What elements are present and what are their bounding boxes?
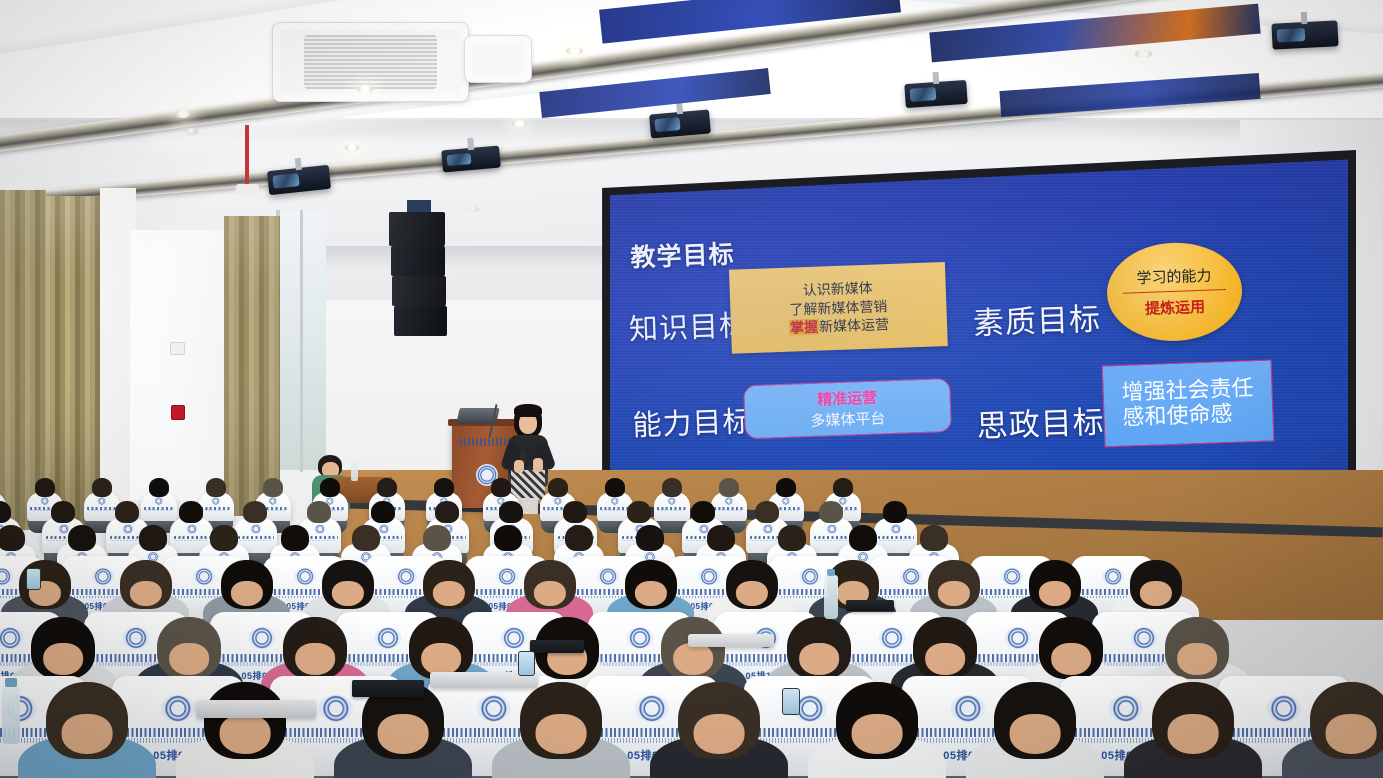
attendee-head: [625, 560, 677, 609]
school-emblem-icon: [248, 627, 275, 649]
seat-school-name-en: [658, 510, 685, 511]
attendee-head: [204, 682, 286, 759]
speaker-array: [389, 212, 451, 342]
school-emblem-icon: [161, 695, 195, 722]
attendee-neck: [1326, 714, 1377, 754]
knowledge-objectives-box: 认识新媒体 了解新媒体营销 掌握新媒体运营: [729, 262, 948, 354]
attendee-head: [423, 560, 475, 609]
attendee-head: [491, 478, 511, 497]
slide-label-knowledge: 知识目标: [628, 302, 749, 348]
attendee-head: [661, 617, 725, 679]
attendee-head: [494, 525, 522, 551]
attendee-neck: [925, 643, 965, 675]
notebook: [846, 600, 894, 611]
school-emblem-icon: [951, 695, 985, 722]
attendee-head: [691, 501, 715, 523]
school-emblem-icon: [1102, 568, 1124, 585]
seat-school-name-en: [88, 510, 115, 511]
seat-school-name-en: [815, 540, 848, 541]
attendee-head: [435, 501, 459, 523]
attendee-head: [605, 478, 625, 497]
seat-school-name-en: [879, 540, 912, 541]
attendee-neck: [421, 643, 461, 675]
attendee-neck: [736, 581, 768, 606]
attendee-head: [928, 560, 980, 609]
attendee-head: [636, 525, 664, 551]
slide-label-ideology: 思政目标: [976, 396, 1106, 446]
school-emblem-icon: [40, 497, 49, 505]
attendee-head: [434, 478, 454, 497]
tablet-arm-desk: [688, 634, 774, 647]
attendee-head: [787, 617, 851, 679]
projector: [267, 165, 331, 195]
attendee-head: [31, 617, 95, 679]
knowledge-line-3-rest: 新媒体运营: [819, 316, 890, 334]
seat-school-name-en: [145, 510, 172, 511]
attendee-head: [563, 501, 587, 523]
notebook: [352, 680, 424, 697]
seat-school-name-en: [202, 510, 229, 511]
attendee-head: [627, 501, 651, 523]
attendee-head: [68, 525, 96, 551]
attendee-head: [662, 478, 682, 497]
fire-alarm-pull: [171, 405, 185, 420]
attendee-head: [423, 525, 451, 551]
attendee-neck: [1140, 581, 1172, 606]
school-emblem-icon: [1130, 627, 1157, 649]
attendee-head: [719, 478, 739, 497]
attendee-head: [352, 525, 380, 551]
knowledge-line-1: 认识新媒体: [802, 280, 873, 299]
attendee-head: [263, 478, 283, 497]
ceiling-access-panel: [464, 35, 532, 83]
attendee-head: [92, 478, 112, 497]
school-emblem-icon: [698, 568, 720, 585]
attendee-head: [243, 501, 267, 523]
seat-school-name-en: [601, 510, 628, 511]
school-emblem-icon: [211, 497, 220, 505]
school-emblem-icon: [500, 627, 527, 649]
attendee-neck: [169, 643, 209, 675]
attendee-neck: [635, 581, 667, 606]
window-mullion: [300, 210, 303, 472]
school-emblem-icon: [496, 568, 518, 585]
attendee-head: [46, 682, 128, 759]
attendee-neck: [534, 581, 566, 606]
attendee-head: [115, 501, 139, 523]
attendee-head: [755, 501, 779, 523]
attendee-neck: [673, 643, 713, 675]
attendee-neck: [938, 581, 970, 606]
water-bottle: [824, 575, 838, 619]
attendee-head: [1310, 682, 1383, 759]
attendee-head: [849, 525, 877, 551]
knowledge-line-3-highlight: 掌握: [789, 319, 820, 336]
ability-line-1: 精准运营: [817, 387, 878, 410]
attendee-head: [51, 501, 75, 523]
school-emblem-icon: [477, 695, 511, 722]
attendee-head: [920, 525, 948, 551]
school-emblem-icon: [92, 568, 114, 585]
attendee-neck: [852, 714, 903, 754]
attendee-head: [371, 501, 395, 523]
attendee-neck: [1039, 581, 1071, 606]
downlight: [175, 110, 191, 118]
attendee-head: [1165, 617, 1229, 679]
knowledge-line-3: 掌握新媒体运营: [789, 316, 890, 336]
attendee-head: [994, 682, 1076, 759]
quality-oval-divider: [1123, 289, 1226, 294]
water-bottle: [2, 686, 20, 744]
attendee-head: [776, 478, 796, 497]
attendee-head: [819, 501, 843, 523]
downlight: [512, 120, 527, 127]
seat-school-name-en: [175, 540, 208, 541]
attendee-head: [322, 560, 374, 609]
knowledge-line-2: 了解新媒体营销: [789, 298, 888, 318]
attendee-head: [377, 478, 397, 497]
school-emblem-icon: [724, 497, 733, 505]
ceiling-camera: [245, 125, 249, 187]
school-emblem-icon: [626, 627, 653, 649]
water-bottle: [351, 462, 358, 481]
attendee-neck: [295, 643, 335, 675]
attendee-neck: [1010, 714, 1061, 754]
attendee-head: [1029, 560, 1081, 609]
attendee-neck: [231, 581, 263, 606]
attendee-head: [678, 682, 760, 759]
attendee-neck: [130, 581, 162, 606]
downlight: [345, 144, 359, 151]
attendee-head: [281, 525, 309, 551]
attendee-head: [210, 525, 238, 551]
attendee-head: [548, 478, 568, 497]
bottle-cap: [827, 569, 836, 576]
attendee-neck: [694, 714, 745, 754]
attendee-neck: [43, 643, 83, 675]
smartphone: [518, 651, 535, 676]
attendee-neck: [62, 714, 113, 754]
attendee-head: [179, 501, 203, 523]
quality-oval-bottom: 提炼运用: [1145, 296, 1206, 319]
attendee-head: [120, 560, 172, 609]
school-emblem-icon: [781, 497, 790, 505]
projector: [1271, 20, 1338, 49]
school-emblem-icon: [597, 568, 619, 585]
ceiling-camera: [236, 184, 259, 195]
curtain-right-of-column: [224, 216, 280, 516]
school-emblem-icon: [374, 627, 401, 649]
slide-heading: 教学目标: [630, 235, 735, 275]
attendee-head: [149, 478, 169, 497]
attendee-head: [524, 560, 576, 609]
slide-label-ability: 能力目标: [632, 398, 753, 444]
projector: [441, 146, 501, 173]
seat-school-name-en: [239, 540, 272, 541]
school-emblem-icon: [635, 695, 669, 722]
school-emblem-icon: [1004, 627, 1031, 649]
attendee-head: [520, 682, 602, 759]
school-emblem-icon: [610, 497, 619, 505]
school-emblem-icon: [553, 497, 562, 505]
school-emblem-icon: [122, 627, 149, 649]
attendee-head: [157, 617, 221, 679]
attendee-neck: [1168, 714, 1219, 754]
bottle-cap: [5, 678, 17, 687]
attendee-head: [35, 478, 55, 497]
attendee-head: [409, 617, 473, 679]
attendee-neck: [220, 714, 271, 754]
smartphone: [782, 688, 800, 715]
notebook: [530, 640, 584, 653]
school-emblem-icon: [799, 568, 821, 585]
attendee-head: [1152, 682, 1234, 759]
slide-label-quality: 素质目标: [972, 294, 1102, 344]
lecture-hall-photo: 教学目标 知识目标 能力目标 素质目标 思政目标 认识新媒体 了解新媒体营销 掌…: [0, 0, 1383, 778]
school-emblem-icon: [268, 497, 277, 505]
attendee-head: [707, 525, 735, 551]
attendee-head: [1130, 560, 1182, 609]
attendee-head: [565, 525, 593, 551]
fire-alarm-bell: [170, 342, 185, 355]
attendee-neck: [433, 581, 465, 606]
attendee-head: [320, 478, 340, 497]
tablet-arm-desk: [196, 700, 316, 718]
school-emblem-icon: [193, 568, 215, 585]
ideology-objectives-box: 增强社会责任 感和使命感: [1102, 359, 1275, 447]
ability-objectives-box: 精准运营 多媒体平台: [743, 378, 952, 439]
attendee-head: [499, 501, 523, 523]
school-emblem-icon: [900, 568, 922, 585]
smoke-detector: [468, 206, 479, 212]
school-emblem-icon: [1109, 695, 1143, 722]
wall-column: [130, 230, 230, 500]
downlight: [1135, 50, 1152, 58]
attendee-neck: [1051, 643, 1091, 675]
attendee-head: [206, 478, 226, 497]
school-emblem-icon: [319, 695, 353, 722]
school-emblem-icon: [667, 497, 676, 505]
quality-oval-top: 学习的能力: [1136, 264, 1212, 288]
school-emblem-icon: [294, 568, 316, 585]
attendee-neck: [332, 581, 364, 606]
school-emblem-icon: [395, 568, 417, 585]
attendee-head: [139, 525, 167, 551]
attendee-neck: [536, 714, 587, 754]
attendee-head: [836, 682, 918, 759]
smoke-detector: [186, 128, 198, 135]
school-emblem-icon: [878, 627, 905, 649]
attendee-head: [883, 501, 907, 523]
projector: [904, 80, 968, 108]
ability-line-2: 多媒体平台: [810, 407, 886, 431]
downlight: [566, 47, 583, 55]
attendee-neck: [378, 714, 429, 754]
ideology-line-1: 增强社会责任: [1121, 376, 1254, 405]
seat-school-name-en: [715, 510, 742, 511]
downlight: [357, 85, 373, 93]
school-emblem-icon: [1267, 695, 1301, 722]
attendee-head: [913, 617, 977, 679]
school-emblem-icon: [154, 497, 163, 505]
attendee-head: [1039, 617, 1103, 679]
attendee-head: [307, 501, 331, 523]
ideology-line-2: 感和使命感: [1122, 401, 1255, 430]
smartphone: [26, 568, 41, 590]
attendee-head: [726, 560, 778, 609]
school-emblem-icon: [97, 497, 106, 505]
attendee-head: [0, 525, 25, 551]
attendee-neck: [1177, 643, 1217, 675]
attendee-head: [833, 478, 853, 497]
attendee-head: [778, 525, 806, 551]
attendee-head: [283, 617, 347, 679]
quality-objectives-oval: 学习的能力 提炼运用: [1105, 240, 1243, 343]
attendee-neck: [799, 643, 839, 675]
attendee-head: [221, 560, 273, 609]
school-emblem-icon: [1001, 568, 1023, 585]
